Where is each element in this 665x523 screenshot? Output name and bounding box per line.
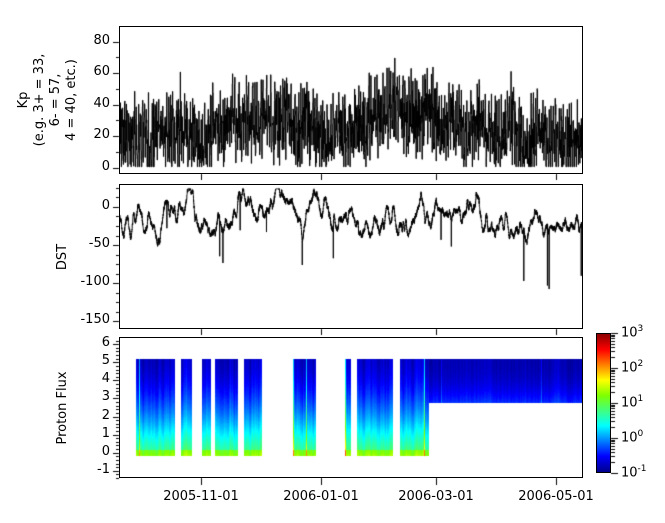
ylabel-dst: DST bbox=[55, 243, 71, 269]
ytick-dst-0: -150 bbox=[80, 312, 110, 327]
ytick-flux-3: 2 bbox=[102, 408, 110, 423]
ylabel-kp-line-0: Kp bbox=[16, 54, 32, 147]
ytick-flux-5: 4 bbox=[102, 371, 110, 386]
xtick-1: 2006-01-01 bbox=[275, 489, 367, 504]
flux-colorbar-gradient bbox=[597, 334, 610, 472]
ytick-kp-0: 0 bbox=[102, 159, 110, 174]
ylabel-dst-line-0: DST bbox=[55, 243, 71, 269]
cbar-tick-1: 100 bbox=[621, 429, 643, 445]
ytick-flux-0: -1 bbox=[97, 462, 110, 477]
ytick-kp-2: 40 bbox=[93, 96, 110, 111]
cbar-tick-2: 101 bbox=[621, 394, 643, 410]
xtick-0: 2005-11-01 bbox=[155, 489, 247, 504]
ytick-kp-3: 60 bbox=[93, 64, 110, 79]
xtick-3: 2006-05-01 bbox=[510, 489, 602, 504]
cbar-tick-0: 10-1 bbox=[621, 464, 647, 480]
ytick-flux-1: 0 bbox=[102, 444, 110, 459]
ytick-dst-3: 0 bbox=[102, 198, 110, 213]
ytick-kp-4: 80 bbox=[93, 33, 110, 48]
ylabel-proton-flux-line-0: Proton Flux bbox=[55, 371, 71, 444]
ytick-kp-1: 20 bbox=[93, 127, 110, 142]
ytick-flux-7: 6 bbox=[102, 335, 110, 350]
figure-canvas: 020406080-150-100-500-101234562005-11-01… bbox=[0, 0, 665, 523]
ylabel-proton-flux: Proton Flux bbox=[55, 371, 71, 444]
ylabel-kp-line-1: (e.g. 3+ = 33, bbox=[32, 54, 48, 147]
ytick-dst-2: -50 bbox=[89, 236, 110, 251]
ylabel-kp-line-2: 6- = 57, bbox=[48, 54, 64, 147]
ytick-dst-1: -100 bbox=[80, 274, 110, 289]
ylabel-kp: Kp(e.g. 3+ = 33,6- = 57,4 = 40, etc.) bbox=[16, 54, 80, 147]
ylabel-kp-line-3: 4 = 40, etc.) bbox=[64, 54, 80, 147]
xtick-2: 2006-03-01 bbox=[390, 489, 482, 504]
cbar-tick-3: 102 bbox=[621, 359, 643, 375]
ytick-flux-2: 1 bbox=[102, 426, 110, 441]
ytick-flux-4: 3 bbox=[102, 389, 110, 404]
ytick-flux-6: 5 bbox=[102, 353, 110, 368]
cbar-tick-4: 103 bbox=[621, 324, 643, 340]
